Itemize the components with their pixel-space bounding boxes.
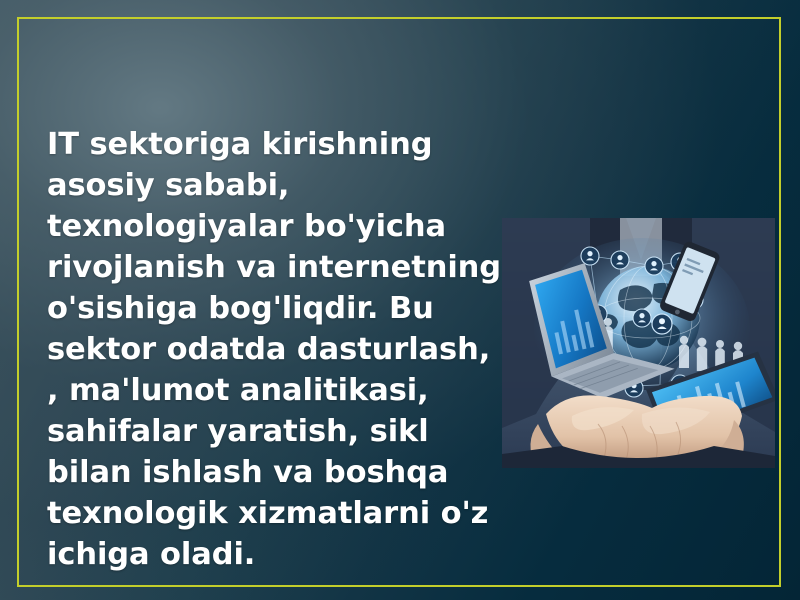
slide-body-text: IT sektoriga kirishning asosiy sababi, t… bbox=[47, 124, 502, 575]
presentation-slide: IT sektoriga kirishning asosiy sababi, t… bbox=[0, 0, 800, 600]
technology-illustration-image bbox=[502, 218, 775, 468]
technology-illustration-svg bbox=[502, 218, 775, 468]
